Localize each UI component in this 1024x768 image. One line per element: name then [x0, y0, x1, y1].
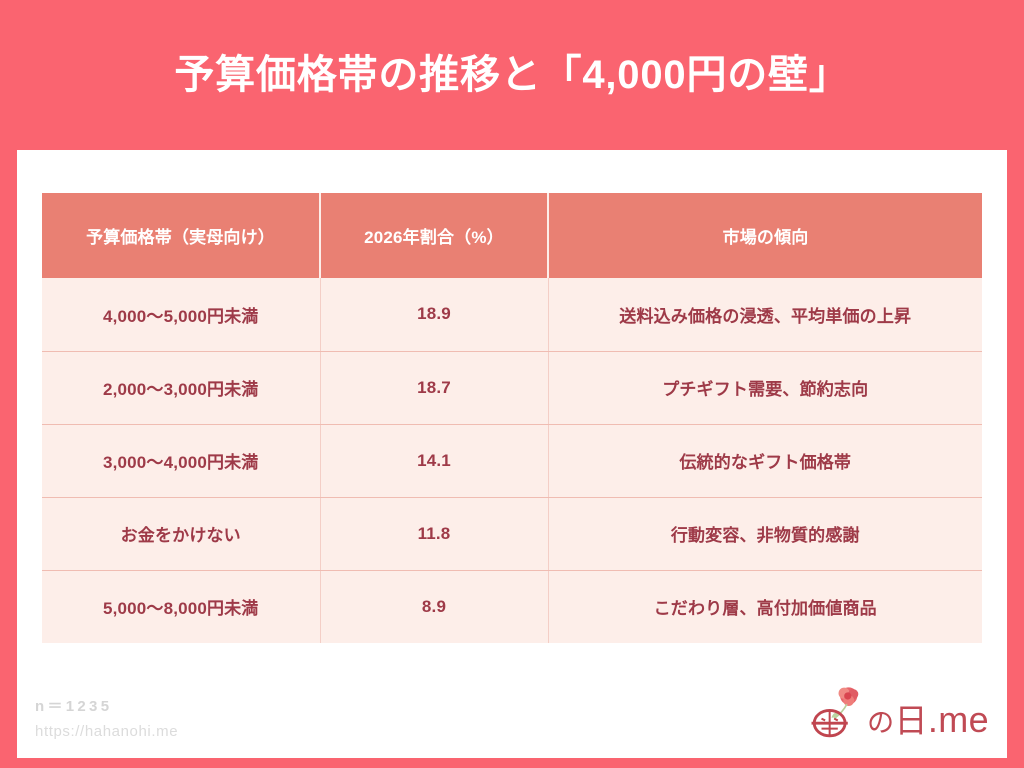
table-row: 2,000〜3,000円未満 18.7 プチギフト需要、節約志向 — [42, 351, 982, 424]
logo-text-hi: 日 — [895, 702, 928, 739]
table-row: お金をかけない 11.8 行動変容、非物質的感謝 — [42, 497, 982, 570]
footer-meta: n＝1235 https://hahanohi.me — [35, 695, 178, 745]
cell-share: 18.9 — [320, 278, 548, 351]
site-logo[interactable]: の日.me — [807, 682, 989, 744]
cell-trend: 伝統的なギフト価格帯 — [548, 424, 982, 497]
sample-size-label: n＝1235 — [35, 695, 178, 720]
cell-price-range: お金をかけない — [42, 497, 320, 570]
logo-wordmark: の日.me — [867, 702, 989, 744]
content-card: 予算価格帯（実母向け） 2026年割合（%） 市場の傾向 4,000〜5,000… — [17, 150, 1007, 758]
table-row: 5,000〜8,000円未満 8.9 こだわり層、高付加価値商品 — [42, 570, 982, 643]
hahanohi-carnation-logo-icon — [807, 686, 865, 744]
cell-price-range: 2,000〜3,000円未満 — [42, 351, 320, 424]
cell-trend: 行動変容、非物質的感謝 — [548, 497, 982, 570]
page-title: 予算価格帯の推移と「4,000円の壁」 — [174, 51, 849, 99]
column-header-price-range: 予算価格帯（実母向け） — [42, 193, 320, 278]
table-header: 予算価格帯（実母向け） 2026年割合（%） 市場の傾向 — [42, 193, 982, 278]
logo-text-me: .me — [928, 699, 989, 740]
cell-trend: 送料込み価格の浸透、平均単価の上昇 — [548, 278, 982, 351]
table-row: 3,000〜4,000円未満 14.1 伝統的なギフト価格帯 — [42, 424, 982, 497]
column-header-market-trend: 市場の傾向 — [548, 193, 982, 278]
cell-trend: こだわり層、高付加価値商品 — [548, 570, 982, 643]
cell-price-range: 3,000〜4,000円未満 — [42, 424, 320, 497]
table-row: 4,000〜5,000円未満 18.9 送料込み価格の浸透、平均単価の上昇 — [42, 278, 982, 351]
cell-share: 11.8 — [320, 497, 548, 570]
table-header-row: 予算価格帯（実母向け） 2026年割合（%） 市場の傾向 — [42, 193, 982, 278]
table-body: 4,000〜5,000円未満 18.9 送料込み価格の浸透、平均単価の上昇 2,… — [42, 278, 982, 643]
title-band: 予算価格帯の推移と「4,000円の壁」 — [0, 0, 1024, 150]
cell-share: 18.7 — [320, 351, 548, 424]
cell-price-range: 4,000〜5,000円未満 — [42, 278, 320, 351]
cell-share: 8.9 — [320, 570, 548, 643]
cell-share: 14.1 — [320, 424, 548, 497]
cell-price-range: 5,000〜8,000円未満 — [42, 570, 320, 643]
source-url[interactable]: https://hahanohi.me — [35, 720, 178, 745]
cell-trend: プチギフト需要、節約志向 — [548, 351, 982, 424]
budget-price-table: 予算価格帯（実母向け） 2026年割合（%） 市場の傾向 4,000〜5,000… — [42, 193, 982, 643]
logo-text-no: の — [867, 708, 894, 738]
column-header-share-2026: 2026年割合（%） — [320, 193, 548, 278]
